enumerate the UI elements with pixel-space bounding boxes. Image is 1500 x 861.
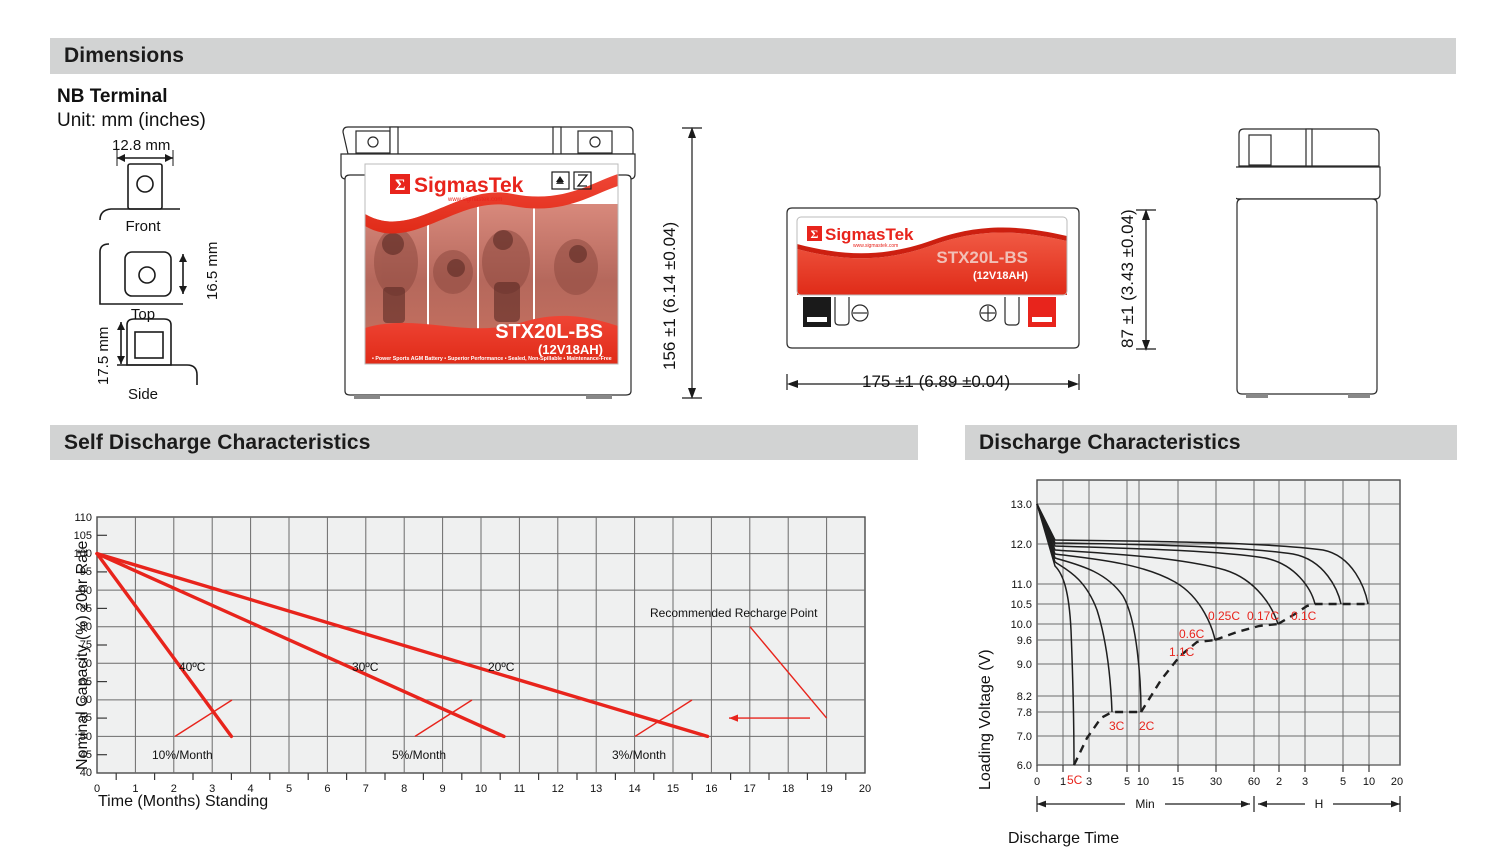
- svg-text:20: 20: [1391, 776, 1403, 788]
- battery-model-front: STX20L-BS: [495, 321, 603, 343]
- unit-label: Unit: mm (inches): [57, 110, 206, 132]
- svg-text:Σ: Σ: [811, 227, 819, 241]
- svg-text:5C: 5C: [1067, 773, 1083, 787]
- svg-text:10: 10: [1137, 776, 1149, 788]
- svg-text:12: 12: [552, 783, 564, 795]
- svg-text:18: 18: [782, 783, 794, 795]
- terminal-width-dim: 12.8 mm: [112, 137, 170, 154]
- svg-text:30ºC: 30ºC: [352, 660, 379, 674]
- terminal-depth-dim: 17.5 mm: [95, 327, 112, 385]
- svg-text:70: 70: [80, 658, 92, 670]
- svg-text:11.0: 11.0: [1011, 579, 1032, 591]
- svg-text:0: 0: [94, 783, 100, 795]
- svg-text:10%/Month: 10%/Month: [152, 748, 213, 762]
- svg-text:0.25C: 0.25C: [1208, 609, 1240, 623]
- svg-text:16: 16: [705, 783, 717, 795]
- svg-text:60: 60: [80, 694, 92, 706]
- svg-text:9.6: 9.6: [1017, 635, 1032, 647]
- svg-text:Σ: Σ: [395, 177, 405, 194]
- svg-text:55: 55: [80, 712, 92, 724]
- svg-text:6.0: 6.0: [1017, 760, 1032, 772]
- svg-text:8.2: 8.2: [1017, 691, 1032, 703]
- svg-text:7.0: 7.0: [1017, 731, 1032, 743]
- svg-text:Recommended Recharge Point: Recommended Recharge Point: [650, 606, 818, 620]
- svg-text:75: 75: [80, 639, 92, 651]
- svg-text:90: 90: [80, 585, 92, 597]
- svg-text:3: 3: [209, 783, 215, 795]
- svg-text:14: 14: [628, 783, 640, 795]
- svg-text:7: 7: [363, 783, 369, 795]
- battery-brand-side: SigmasTek: [825, 225, 914, 244]
- section-title-dimensions: Dimensions: [50, 44, 184, 68]
- self-discharge-chart: 110 105 100 95 90 85 80 75 70 65 60 55 5…: [60, 505, 880, 795]
- battery-features-front: • Power Sports AGM Battery • Superior Pe…: [372, 356, 612, 362]
- svg-text:40ºC: 40ºC: [179, 660, 206, 674]
- svg-text:1.1C: 1.1C: [1169, 645, 1195, 659]
- discharge-unit-min: Min: [1135, 797, 1154, 811]
- spec-sheet-page: Dimensions NB Terminal Unit: mm (inches): [0, 0, 1500, 861]
- svg-text:10.0: 10.0: [1011, 619, 1032, 631]
- svg-text:11: 11: [514, 783, 525, 795]
- svg-text:60: 60: [1248, 776, 1260, 788]
- svg-text:1: 1: [132, 783, 138, 795]
- svg-text:85: 85: [80, 603, 92, 615]
- svg-text:5%/Month: 5%/Month: [392, 748, 446, 762]
- negative-terminal: [803, 297, 831, 327]
- positive-terminal: [1028, 297, 1056, 327]
- svg-text:0.6C: 0.6C: [1179, 627, 1205, 641]
- svg-text:19: 19: [820, 783, 832, 795]
- svg-text:4: 4: [248, 783, 254, 795]
- svg-text:1: 1: [1060, 776, 1066, 788]
- svg-text:9.0: 9.0: [1017, 659, 1032, 671]
- svg-text:3: 3: [1302, 776, 1308, 788]
- terminal-view-side: Side: [103, 386, 183, 403]
- terminal-view-top: Top: [103, 306, 183, 323]
- self-discharge-x-axis-title: Time (Months) Standing: [98, 793, 268, 811]
- svg-text:100: 100: [74, 548, 92, 560]
- battery-website-front: www.sigmastek.com: [447, 197, 502, 203]
- svg-text:45: 45: [80, 749, 92, 761]
- battery-width-dim-label: 175 ±1 (6.89 ±0.04): [862, 372, 1010, 392]
- svg-text:10.5: 10.5: [1011, 599, 1032, 611]
- svg-text:110: 110: [74, 512, 92, 524]
- section-title-discharge: Discharge Characteristics: [965, 431, 1241, 455]
- svg-text:10: 10: [475, 783, 487, 795]
- battery-website-side: www.sigmastek.com: [853, 243, 898, 249]
- svg-text:5: 5: [286, 783, 292, 795]
- svg-text:95: 95: [80, 566, 92, 578]
- section-header-dimensions: Dimensions: [50, 38, 1456, 74]
- svg-text:80: 80: [80, 621, 92, 633]
- discharge-unit-hour: H: [1315, 797, 1324, 811]
- svg-text:2C: 2C: [1139, 719, 1155, 733]
- discharge-chart: 13.0 12.0 11.0 10.5 10.0 9.6 9.0 8.2 7.8…: [975, 470, 1415, 825]
- svg-text:17: 17: [744, 783, 756, 795]
- battery-side-view: Σ SigmasTek www.sigmastek.com STX20L-BS …: [783, 205, 1115, 355]
- svg-text:13: 13: [590, 783, 602, 795]
- svg-text:10: 10: [1363, 776, 1375, 788]
- svg-text:0.1C: 0.1C: [1291, 609, 1317, 623]
- battery-brand-front: SigmasTek: [414, 174, 524, 197]
- svg-text:6: 6: [324, 783, 330, 795]
- svg-text:3: 3: [1086, 776, 1092, 788]
- svg-text:8: 8: [401, 783, 407, 795]
- section-title-self-discharge: Self Discharge Characteristics: [50, 431, 370, 455]
- battery-profile-view: [1236, 126, 1416, 404]
- svg-text:3C: 3C: [1109, 719, 1125, 733]
- svg-text:30: 30: [1210, 776, 1222, 788]
- battery-capacity-front: (12V18AH): [538, 342, 603, 357]
- svg-text:7.8: 7.8: [1017, 707, 1032, 719]
- svg-text:5: 5: [1340, 776, 1346, 788]
- battery-side-height-dim-label: 87 ±1 (3.43 ±0.04): [1118, 209, 1138, 348]
- battery-height-dim-label: 156 ±1 (6.14 ±0.04): [660, 222, 680, 370]
- svg-text:40: 40: [80, 767, 92, 779]
- svg-text:15: 15: [1172, 776, 1184, 788]
- svg-text:0: 0: [1034, 776, 1040, 788]
- section-header-discharge: Discharge Characteristics: [965, 425, 1457, 460]
- battery-capacity-side: (12V18AH): [973, 270, 1028, 282]
- battery-model-side: STX20L-BS: [936, 248, 1028, 267]
- svg-text:15: 15: [667, 783, 679, 795]
- svg-text:2: 2: [171, 783, 177, 795]
- svg-text:5: 5: [1124, 776, 1130, 788]
- svg-text:2: 2: [1276, 776, 1282, 788]
- svg-text:105: 105: [74, 530, 92, 542]
- svg-text:20: 20: [859, 783, 871, 795]
- terminal-height-dim: 16.5 mm: [204, 242, 221, 300]
- svg-text:9: 9: [440, 783, 446, 795]
- terminal-drawings: [55, 132, 305, 412]
- svg-text:50: 50: [80, 731, 92, 743]
- terminal-view-front: Front: [103, 218, 183, 235]
- section-header-self-discharge: Self Discharge Characteristics: [50, 425, 918, 460]
- svg-text:65: 65: [80, 676, 92, 688]
- svg-text:0.17C: 0.17C: [1247, 609, 1279, 623]
- svg-text:13.0: 13.0: [1011, 499, 1032, 511]
- battery-front-view: Σ SigmasTek www.sigmastek.com STX20L-BS …: [338, 122, 658, 404]
- svg-text:20ºC: 20ºC: [488, 660, 515, 674]
- svg-text:3%/Month: 3%/Month: [612, 748, 666, 762]
- nb-terminal-heading: NB Terminal: [57, 86, 168, 108]
- svg-text:12.0: 12.0: [1011, 539, 1032, 551]
- discharge-x-axis-title: Discharge Time: [1008, 830, 1119, 848]
